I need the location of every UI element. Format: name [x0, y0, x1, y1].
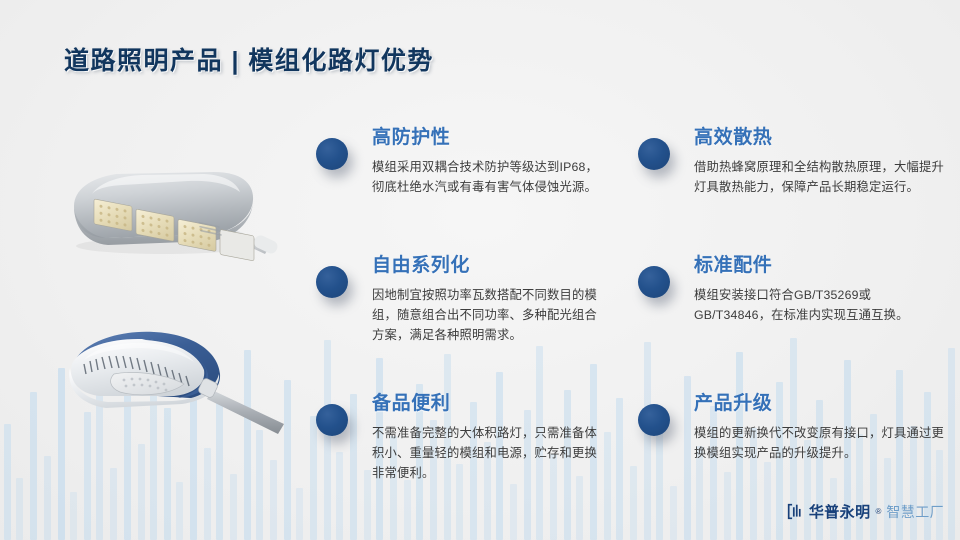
- feature-text: 模组安装接口符合GB/T35269或GB/T34846，在标准内实现互通互换。: [694, 286, 946, 326]
- decorative-bar: [44, 456, 51, 540]
- decorative-bar: [270, 460, 277, 540]
- bullet-dot-icon: [316, 266, 348, 298]
- modular-led-street-lamp-gray-image: [38, 142, 293, 262]
- logo-subbrand-name: 智慧工厂: [886, 502, 944, 522]
- feature-text: 模组的更新换代不改变原有接口，灯具通过更换模组实现产品的升级提升。: [694, 424, 946, 464]
- decorative-bar: [204, 448, 211, 540]
- feature-title: 产品升级: [694, 394, 932, 415]
- company-logo: 华普永明 ® 智慧工厂: [787, 501, 944, 522]
- feature-card-product-upgrade: 产品升级 模组的更新换代不改变原有接口，灯具通过更换模组实现产品的升级提升。: [632, 394, 932, 464]
- feature-title: 备品便利: [372, 394, 610, 415]
- decorative-bar: [230, 474, 237, 540]
- feature-title: 高效散热: [694, 128, 932, 149]
- feature-title: 标准配件: [694, 256, 932, 277]
- feature-card-efficient-heat-dissipation: 高效散热 借助热蜂窝原理和全结构散热原理，大幅提升灯具散热能力，保障产品长期稳定…: [632, 128, 932, 198]
- logo-registered-mark: ®: [875, 507, 881, 516]
- feature-card-high-protection: 高防护性 模组采用双耦合技术防护等级达到IP68，彻底杜绝水汽或有毒有害气体侵蚀…: [310, 128, 610, 198]
- bullet-dot-icon: [638, 266, 670, 298]
- feature-title: 自由系列化: [372, 256, 610, 277]
- huapu-bracket-icon: [787, 503, 804, 520]
- bullet-dot-icon: [638, 138, 670, 170]
- bullet-dot-icon: [316, 404, 348, 436]
- feature-text: 借助热蜂窝原理和全结构散热原理，大幅提升灯具散热能力，保障产品长期稳定运行。: [694, 158, 946, 198]
- integrated-street-lamp-blue-image: [22, 312, 292, 442]
- decorative-bar: [296, 488, 303, 540]
- feature-card-standard-accessories: 标准配件 模组安装接口符合GB/T35269或GB/T34846，在标准内实现互…: [632, 256, 932, 326]
- slide-root: 道路照明产品 | 模组化路灯优势: [0, 0, 960, 540]
- decorative-bar: [176, 482, 183, 540]
- feature-grid: 高防护性 模组采用双耦合技术防护等级达到IP68，彻底杜绝水汽或有毒有害气体侵蚀…: [310, 128, 950, 498]
- decorative-bar: [4, 424, 11, 540]
- bullet-dot-icon: [638, 404, 670, 436]
- page-title: 道路照明产品 | 模组化路灯优势: [64, 41, 434, 77]
- feature-card-free-serialization: 自由系列化 因地制宜按照功率瓦数搭配不同数目的模组，随意组合出不同功率、多种配光…: [310, 256, 610, 346]
- feature-card-spare-parts-convenience: 备品便利 不需准备完整的大体积路灯，只需准备体积小、重量轻的模组和电源，贮存和更…: [310, 394, 610, 484]
- decorative-bar: [110, 468, 117, 540]
- bullet-dot-icon: [316, 138, 348, 170]
- feature-text: 不需准备完整的大体积路灯，只需准备体积小、重量轻的模组和电源，贮存和更换非常便利…: [372, 424, 608, 484]
- logo-brand-name: 华普永明: [809, 501, 871, 522]
- feature-title: 高防护性: [372, 128, 610, 149]
- decorative-bar: [16, 478, 23, 540]
- decorative-bar: [70, 492, 77, 540]
- decorative-bar: [256, 430, 263, 540]
- decorative-bar: [138, 444, 145, 540]
- feature-text: 模组采用双耦合技术防护等级达到IP68，彻底杜绝水汽或有毒有害气体侵蚀光源。: [372, 158, 608, 198]
- feature-text: 因地制宜按照功率瓦数搭配不同数目的模组，随意组合出不同功率、多种配光组合方案，满…: [372, 286, 608, 346]
